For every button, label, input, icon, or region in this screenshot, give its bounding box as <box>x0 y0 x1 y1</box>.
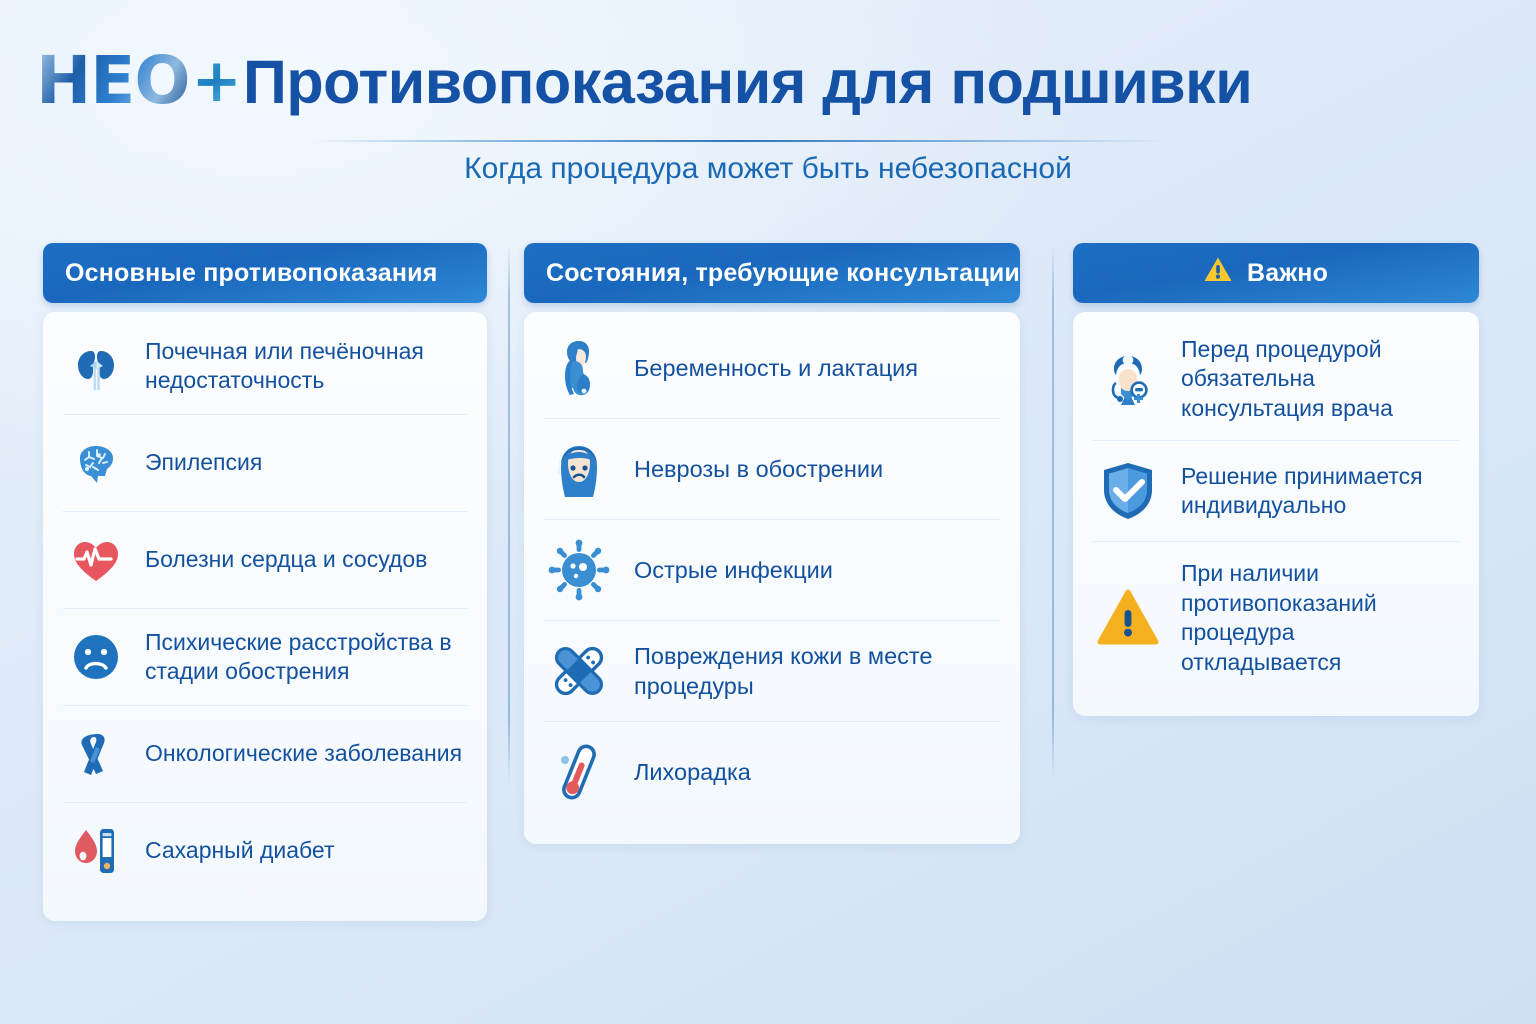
page-subtitle: Когда процедура может быть небезопасной <box>0 152 1536 186</box>
list-item[interactable]: Повреждения кожи в месте процедуры <box>544 621 1000 722</box>
column-header-label: Основные противопоказания <box>65 259 437 288</box>
list-item-label: Беременность и лактация <box>634 353 918 383</box>
doctor-icon <box>1095 346 1161 412</box>
warning-triangle-icon <box>1203 255 1233 292</box>
column-divider-2 <box>1052 245 1054 777</box>
list-item-label: Лихорадка <box>634 757 751 787</box>
list-item-label: Неврозы в обострении <box>634 454 883 484</box>
list-item[interactable]: Почечная или печёночная недостаточность <box>63 318 467 415</box>
list-item[interactable]: Неврозы в обострении <box>544 419 1000 520</box>
list-item[interactable]: Психические расстройства в стадии обостр… <box>63 609 467 706</box>
list-item[interactable]: Лихорадка <box>544 722 1000 822</box>
title-divider <box>310 140 1165 142</box>
list-item-label: Острые инфекции <box>634 555 833 585</box>
list-item[interactable]: Беременность и лактация <box>544 318 1000 419</box>
list-item-label: Решение принимается индивидуально <box>1181 462 1457 521</box>
column-header: Состояния, требующие консультации <box>524 243 1020 303</box>
list-item[interactable]: Онкологические заболевания <box>63 706 467 803</box>
list-item-label: Психические расстройства в стадии обостр… <box>145 628 465 687</box>
list-item-label: Онкологические заболевания <box>145 739 462 768</box>
list-item-label: Повреждения кожи в месте процедуры <box>634 641 998 701</box>
thermometer-icon <box>546 739 612 805</box>
brand-plus-icon: + <box>191 51 240 111</box>
list-item[interactable]: Эпилепсия <box>63 415 467 512</box>
heart-pulse-icon <box>65 529 127 591</box>
infographic-page: НЕО + Противопоказания для подшивки Когд… <box>0 0 1536 1024</box>
list-item[interactable]: Болезни сердца и сосудов <box>63 512 467 609</box>
page-header: НЕО + Противопоказания для подшивки Когд… <box>0 0 1536 215</box>
list-item[interactable]: При наличии противопоказаний процедура о… <box>1093 542 1459 694</box>
sad-face-icon <box>65 626 127 688</box>
virus-icon <box>546 537 612 603</box>
kidneys-icon <box>65 335 127 397</box>
column-body: Перед процедурой обязательна консультаци… <box>1073 312 1479 716</box>
bandages-icon <box>546 638 612 704</box>
warning-triangle-icon <box>1095 585 1161 651</box>
list-item-label: Почечная или печёночная недостаточность <box>145 337 465 396</box>
pregnant-woman-icon <box>546 335 612 401</box>
shield-check-icon <box>1095 458 1161 524</box>
list-item-label: Эпилепсия <box>145 448 262 477</box>
brand-logo-text: НЕО <box>36 48 189 114</box>
page-title: Противопоказания для подшивки <box>243 47 1252 117</box>
column-important: Важно <box>1073 243 1479 716</box>
list-item-label: Перед процедурой обязательна консультаци… <box>1181 335 1457 423</box>
column-header-label: Состояния, требующие консультации <box>546 259 1020 288</box>
column-divider-1 <box>508 245 510 782</box>
column-header: Основные противопоказания <box>43 243 487 303</box>
list-item[interactable]: Сахарный диабет <box>63 803 467 899</box>
column-body: Беременность и лактация <box>524 312 1020 844</box>
column-body: Почечная или печёночная недостаточность <box>43 312 487 921</box>
column-header: Важно <box>1073 243 1479 303</box>
list-item-label: Болезни сердца и сосудов <box>145 545 427 574</box>
column-requires-consultation: Состояния, требующие консультации <box>524 243 1020 844</box>
list-item-label: Сахарный диабет <box>145 836 335 865</box>
awareness-ribbon-icon <box>65 723 127 785</box>
brain-icon <box>65 432 127 494</box>
blood-drop-glucometer-icon <box>65 820 127 882</box>
list-item-label: При наличии противопоказаний процедура о… <box>1181 559 1457 677</box>
brand-logo: НЕО + <box>36 48 241 114</box>
list-item[interactable]: Перед процедурой обязательна консультаци… <box>1093 318 1459 441</box>
list-item[interactable]: Острые инфекции <box>544 520 1000 621</box>
list-item[interactable]: Решение принимается индивидуально <box>1093 441 1459 542</box>
column-main-contraindications: Основные противопоказания По <box>43 243 487 921</box>
stressed-woman-icon <box>546 436 612 502</box>
column-header-label: Важно <box>1247 259 1328 288</box>
